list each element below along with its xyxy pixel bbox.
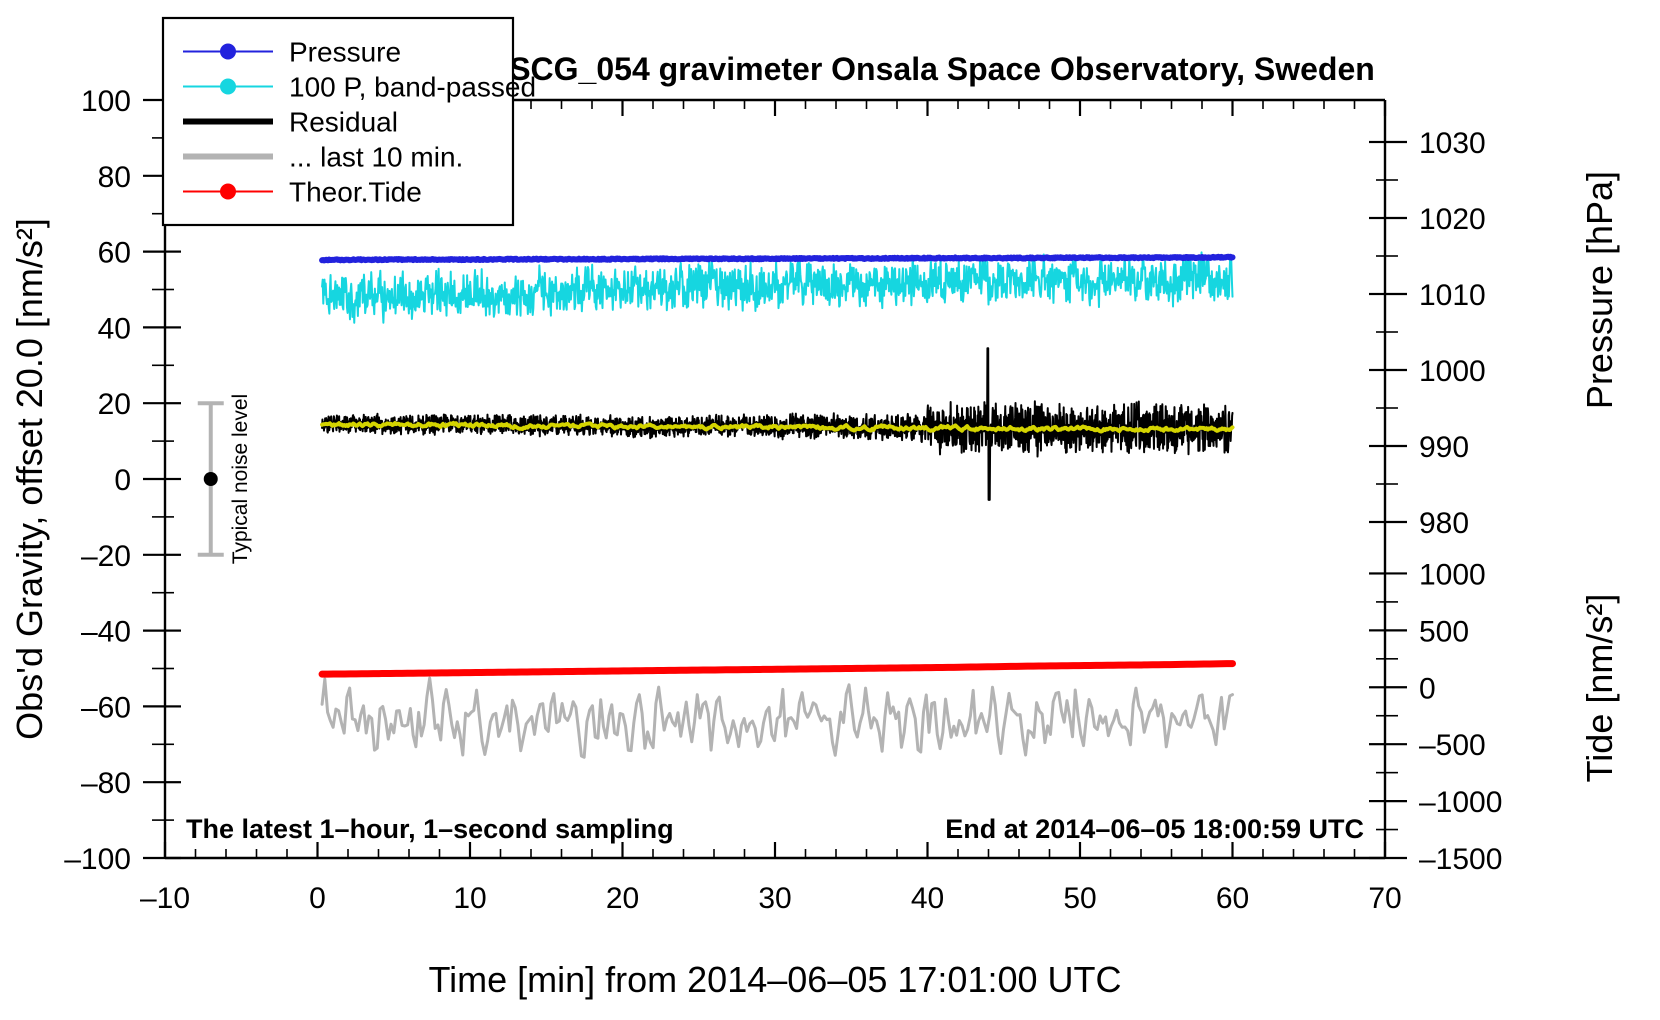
legend-item-label: ... last 10 min. [289,142,463,173]
x-tick-label: –10 [140,882,190,915]
legend-swatch-dot [220,79,236,95]
legend-item-label: Pressure [289,37,401,68]
y-left-tick-label: 40 [98,312,131,345]
y-right-pressure-tick-label: 1000 [1419,355,1486,388]
legend-swatch-dot [220,44,236,60]
y-right-pressure-tick-label: 980 [1419,507,1469,540]
y-right-pressure-tick-label: 1030 [1419,127,1486,160]
x-axis-title: Time [min] from 2014–06–05 17:01:00 UTC [428,959,1121,1000]
y-right-tide-tick-label: –1000 [1419,786,1502,819]
y-right-tide-axis-title: Tide [nm/s²] [1579,594,1620,783]
y-right-pressure-axis-title: Pressure [hPa] [1579,171,1620,409]
x-tick-label: 60 [1216,882,1249,915]
y-left-tick-label: –60 [81,691,131,724]
x-tick-label: 10 [453,882,486,915]
legend-item-label: Residual [289,107,398,138]
x-tick-label: 70 [1368,882,1401,915]
y-left-tick-label: 80 [98,161,131,194]
y-left-tick-label: –40 [81,616,131,649]
legend: Pressure100 P, band-passedResidual... la… [163,18,536,225]
y-right-pressure-tick-label: 1020 [1419,203,1486,236]
x-tick-label: 40 [911,882,944,915]
y-left-axis-title: Obs'd Gravity, offset 20.0 [nm/s²] [9,218,50,740]
legend-swatch-dot [220,184,236,200]
y-right-tide-tick-label: 0 [1419,672,1436,705]
noise-level-label: Typical noise level [229,394,252,564]
y-left-tick-label: –80 [81,767,131,800]
y-right-tide-tick-label: 1000 [1419,558,1486,591]
page-title: SCG_054 gravimeter Onsala Space Observat… [509,51,1375,87]
y-right-tide-tick-label: –500 [1419,729,1486,762]
y-left-tick-label: 60 [98,237,131,270]
y-right-pressure-tick-label: 1010 [1419,279,1486,312]
noise-bar-center-dot [204,472,218,486]
legend-item-label: 100 P, band-passed [289,72,536,103]
y-left-tick-label: 20 [98,388,131,421]
gravimeter-chart: –10010203040506070 100806040200–20–40–60… [0,0,1660,1020]
y-left-tick-label: 0 [114,464,131,497]
legend-item-label: Theor.Tide [289,177,422,208]
y-left-tick-label: 100 [81,85,131,118]
y-right-pressure-tick-label: 990 [1419,431,1469,464]
y-right-tide-tick-label: –1500 [1419,843,1502,876]
x-tick-label: 0 [309,882,326,915]
bottom-right-annotation: End at 2014–06–05 18:00:59 UTC [945,814,1364,844]
y-right-tide-tick-label: 500 [1419,615,1469,648]
x-tick-label: 30 [758,882,791,915]
bottom-left-annotation: The latest 1–hour, 1–second sampling [186,814,674,844]
y-left-tick-label: –20 [81,540,131,573]
chart-root: –10010203040506070 100806040200–20–40–60… [0,0,1660,1020]
x-tick-label: 20 [606,882,639,915]
y-left-tick-label: –100 [64,843,131,876]
x-tick-label: 50 [1063,882,1096,915]
trace-pressure [322,257,1232,261]
